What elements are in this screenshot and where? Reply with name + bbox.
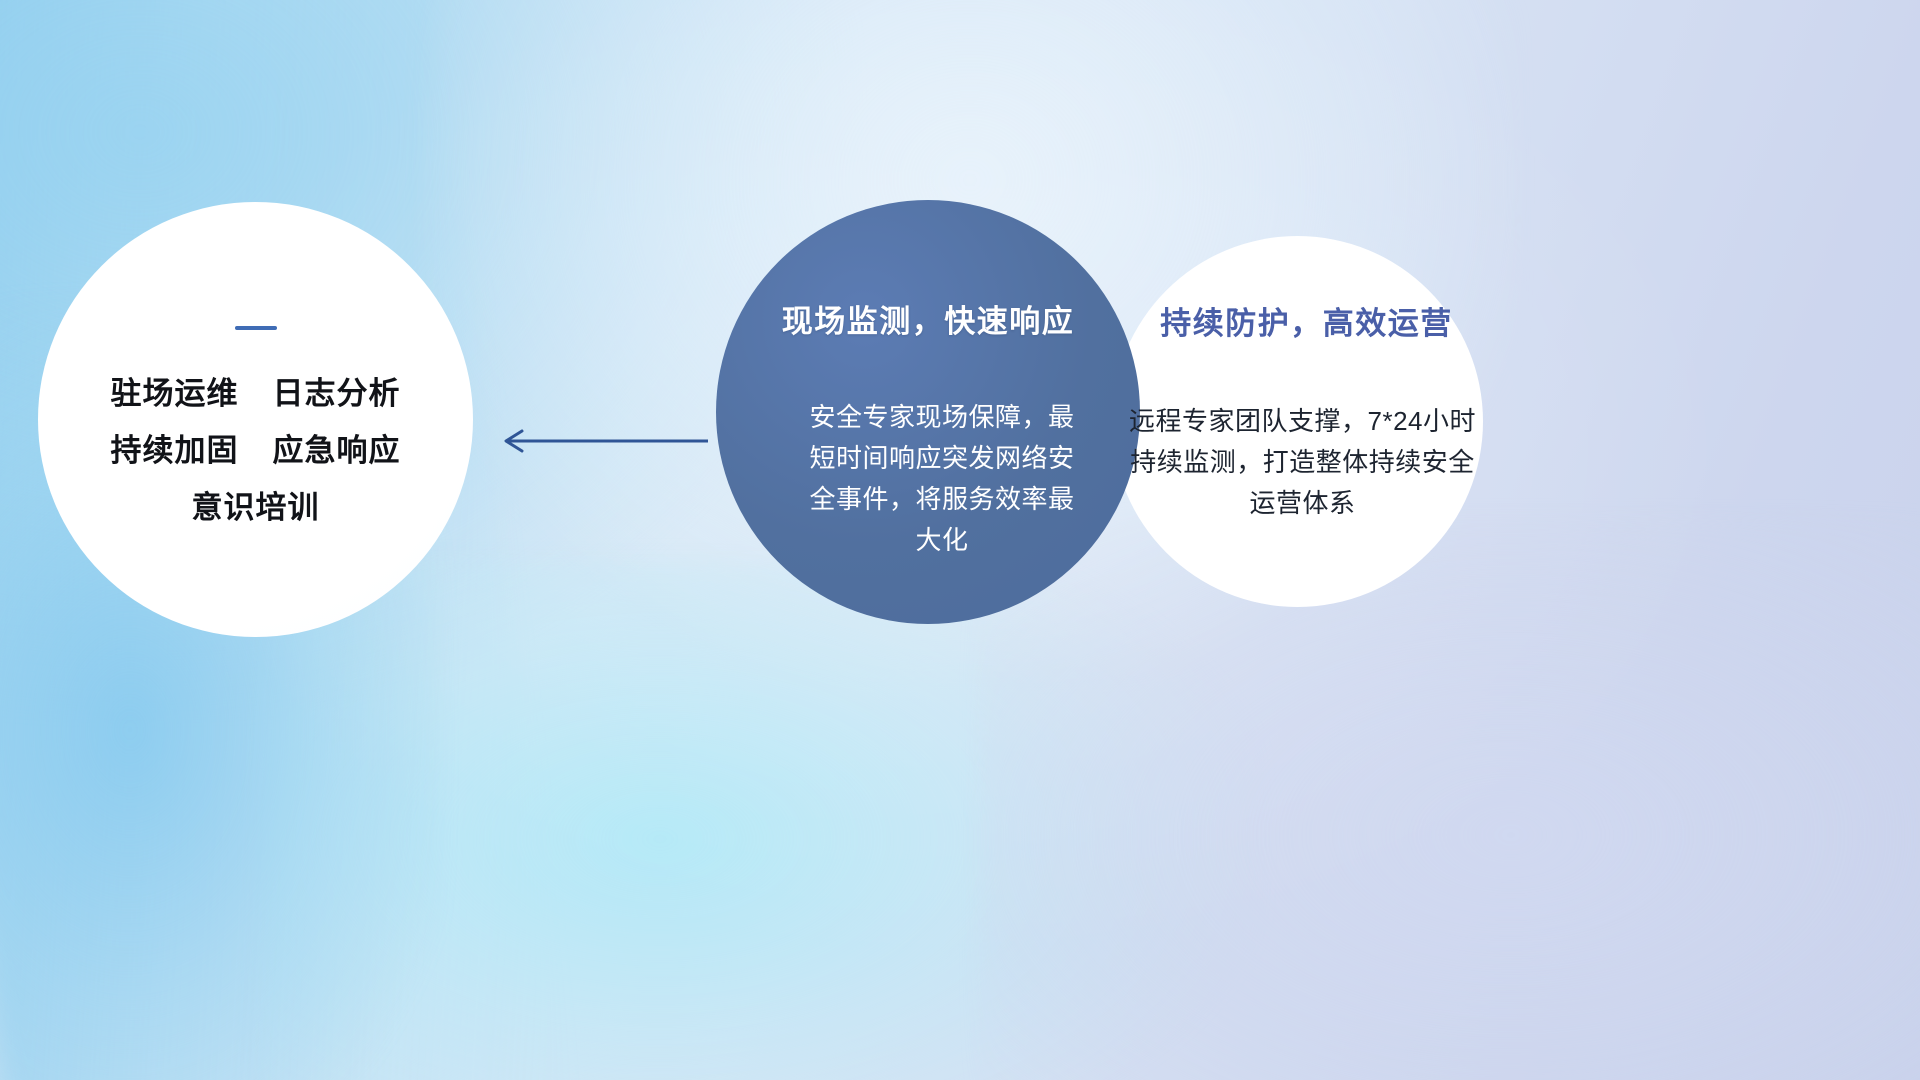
divider-dash <box>235 326 277 330</box>
left-circle-content: 驻场运维 日志分析 持续加固 应急响应 意识培训 <box>38 202 473 637</box>
capability-tag: 日志分析 <box>273 378 401 409</box>
right-circle-title: 持续防护，高效运营 <box>1160 298 1453 343</box>
right-circle-body: 远程专家团队支撑，7*24小时持续监测，打造整体持续安全运营体系 <box>1129 401 1477 524</box>
arrow-left-icon <box>490 420 710 462</box>
right-circle-content: 持续防护，高效运营 远程专家团队支撑，7*24小时持续监测，打造整体持续安全运营… <box>1112 236 1483 607</box>
capability-tag: 应急响应 <box>273 435 401 466</box>
left-row-1: 驻场运维 日志分析 <box>111 378 401 409</box>
center-circle-content: 现场监测，快速响应 安全专家现场保障，最短时间响应突发网络安全事件，将服务效率最… <box>716 200 1140 624</box>
capability-tag: 持续加固 <box>111 435 239 466</box>
capability-tag: 意识培训 <box>192 492 320 523</box>
slide-canvas: 驻场运维 日志分析 持续加固 应急响应 意识培训 现场监测，快速响应 安全专家现… <box>0 0 1920 1080</box>
center-circle-body: 安全专家现场保障，最短时间响应突发网络安全事件，将服务效率最大化 <box>808 397 1076 561</box>
capability-tag: 驻场运维 <box>111 378 239 409</box>
center-circle-title: 现场监测，快速响应 <box>782 296 1075 341</box>
left-row-2: 持续加固 应急响应 <box>111 435 401 466</box>
left-row-3: 意识培训 <box>192 492 320 523</box>
